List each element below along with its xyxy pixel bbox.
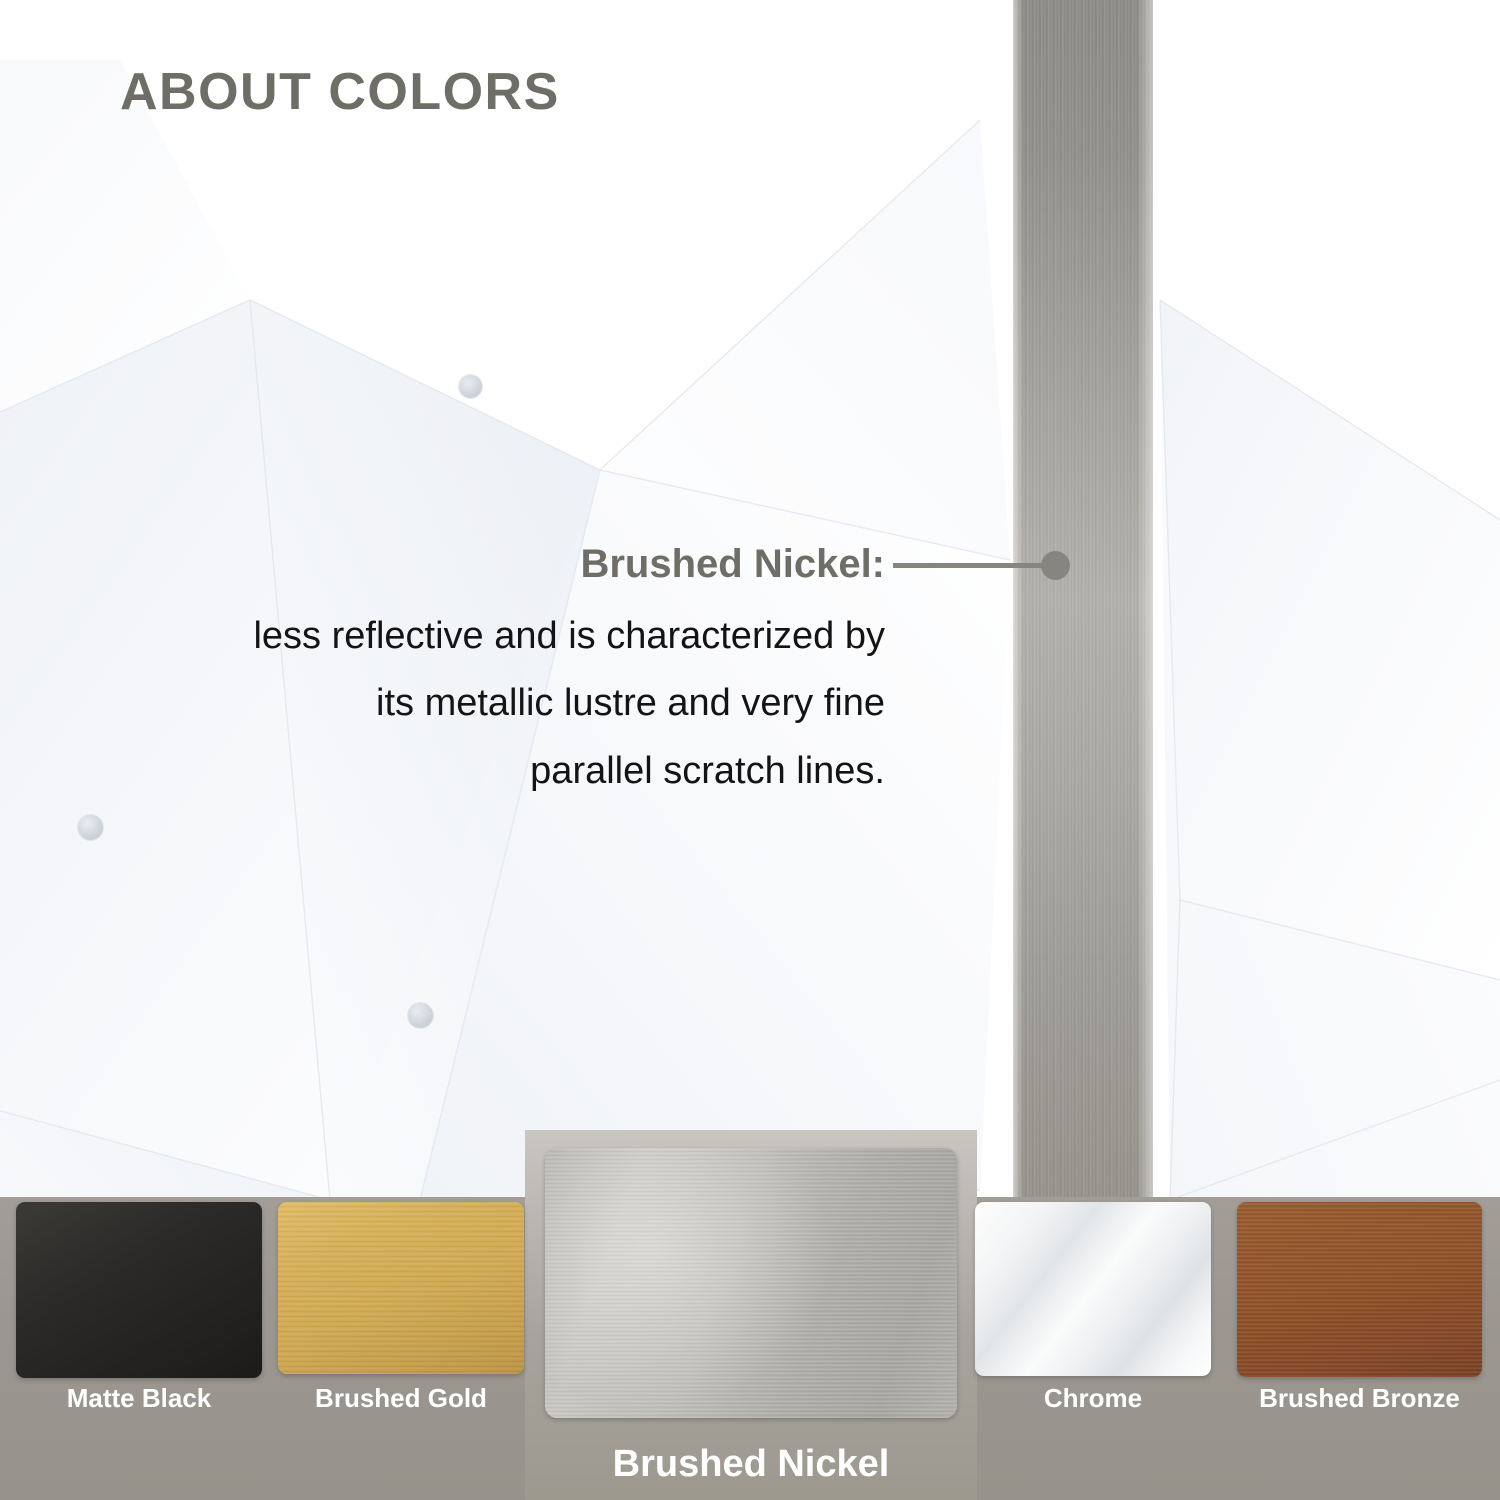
swatch-chrome[interactable] <box>975 1202 1211 1376</box>
callout-body-line-1: less reflective and is characterized by <box>110 603 885 671</box>
page-title: ABOUT COLORS <box>120 62 560 122</box>
swatch-brushed-bronze[interactable] <box>1237 1202 1482 1377</box>
decorative-dot <box>408 1003 433 1028</box>
callout-text-block: Brushed Nickel: less reflective and is c… <box>110 540 885 806</box>
swatch-label-matte-black: Matte Black <box>16 1383 262 1414</box>
swatch-matte-black[interactable] <box>16 1202 262 1378</box>
callout-body-line-3: parallel scratch lines. <box>110 738 885 806</box>
swatch-label-chrome: Chrome <box>975 1383 1211 1414</box>
swatch-label-brushed-bronze: Brushed Bronze <box>1237 1383 1482 1414</box>
callout-body-line-2: its metallic lustre and very fine <box>110 670 885 738</box>
swatch-brushed-nickel[interactable] <box>545 1148 957 1418</box>
callout-leader-dot <box>1041 551 1070 580</box>
callout-heading: Brushed Nickel: <box>110 540 885 589</box>
infographic-canvas: ABOUT COLORS Brushed Nickel: less reflec… <box>0 0 1500 1500</box>
brushed-nickel-sample-bar <box>1013 0 1153 1200</box>
swatch-label-brushed-gold: Brushed Gold <box>278 1383 524 1414</box>
decorative-dot <box>459 375 482 398</box>
swatch-brushed-gold[interactable] <box>278 1202 524 1374</box>
decorative-dot <box>78 815 103 840</box>
callout-leader-line <box>893 563 1055 568</box>
swatch-label-brushed-nickel: Brushed Nickel <box>545 1443 957 1486</box>
